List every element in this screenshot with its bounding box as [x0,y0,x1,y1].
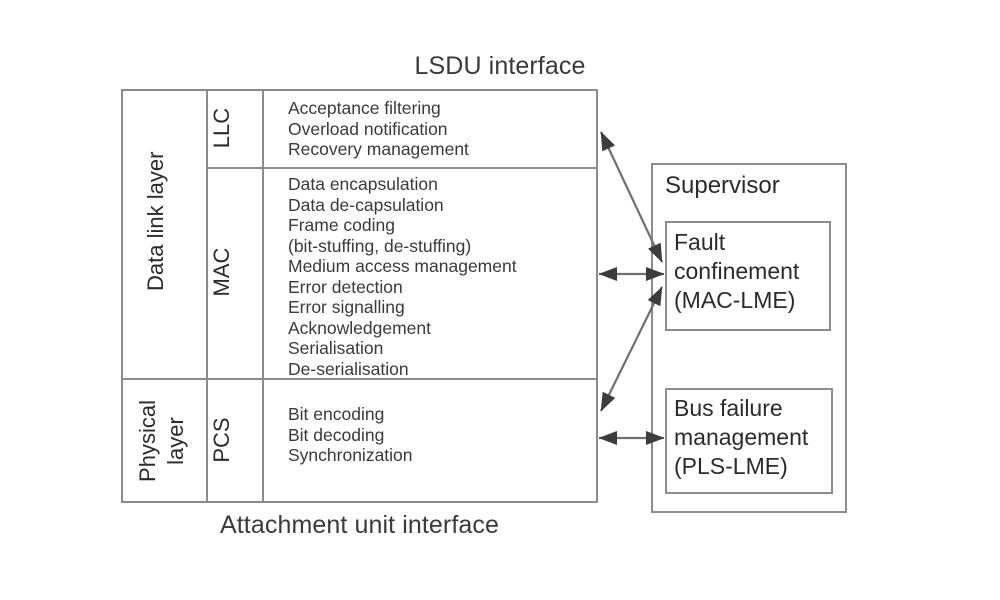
fault-confinement-line-2: confinement [674,257,799,286]
pcs-item: Bit decoding [288,425,413,446]
mac-item: Error signalling [288,297,517,318]
layer-label-physical: Physical [135,386,161,496]
layer-label-layer: layer [163,386,189,496]
sublayer-label-mac: MAC [209,237,235,307]
fault-confinement-line-1: Fault [674,228,799,257]
bus-failure-line-1: Bus failure [674,394,808,423]
sublayer-column-divider [262,89,264,503]
layer-label-data-link-layer: Data link layer [143,181,169,291]
lsdu-interface-title: LSDU interface [0,52,1000,81]
mac-function-list: Data encapsulation Data de-capsulation F… [288,174,517,379]
bus-failure-line-2: management [674,423,808,452]
mac-item: (bit-stuffing, de-stuffing) [288,236,517,257]
layer-column-divider [206,89,208,503]
mac-item: Data encapsulation [288,174,517,195]
mac-item: Acknowledgement [288,318,517,339]
bus-failure-line-3: (PLS-LME) [674,452,808,481]
supervisor-title: Supervisor [665,172,780,200]
pcs-item: Bit encoding [288,404,413,425]
mac-item: Data de-capsulation [288,195,517,216]
llc-item: Recovery management [288,139,469,160]
attachment-unit-interface-title: Attachment unit interface [121,511,598,540]
pcs-item: Synchronization [288,445,413,466]
sublayer-label-llc: LLC [209,93,235,163]
diagram-canvas: LSDU interface Data link layer Physical … [0,0,1000,600]
pcs-function-list: Bit encoding Bit decoding Synchronizatio… [288,404,413,466]
sublayer-label-pcs: PCS [209,405,235,475]
fault-confinement-label: Fault confinement (MAC-LME) [674,228,799,315]
mac-item: Frame coding [288,215,517,236]
mac-item: De-serialisation [288,359,517,380]
mac-item: Serialisation [288,338,517,359]
bus-failure-management-label: Bus failure management (PLS-LME) [674,394,808,481]
llc-mac-divider [206,167,598,169]
mac-item: Error detection [288,277,517,298]
llc-item: Overload notification [288,119,469,140]
llc-item: Acceptance filtering [288,98,469,119]
fault-confinement-line-3: (MAC-LME) [674,286,799,315]
llc-function-list: Acceptance filtering Overload notificati… [288,98,469,160]
mac-item: Medium access management [288,256,517,277]
